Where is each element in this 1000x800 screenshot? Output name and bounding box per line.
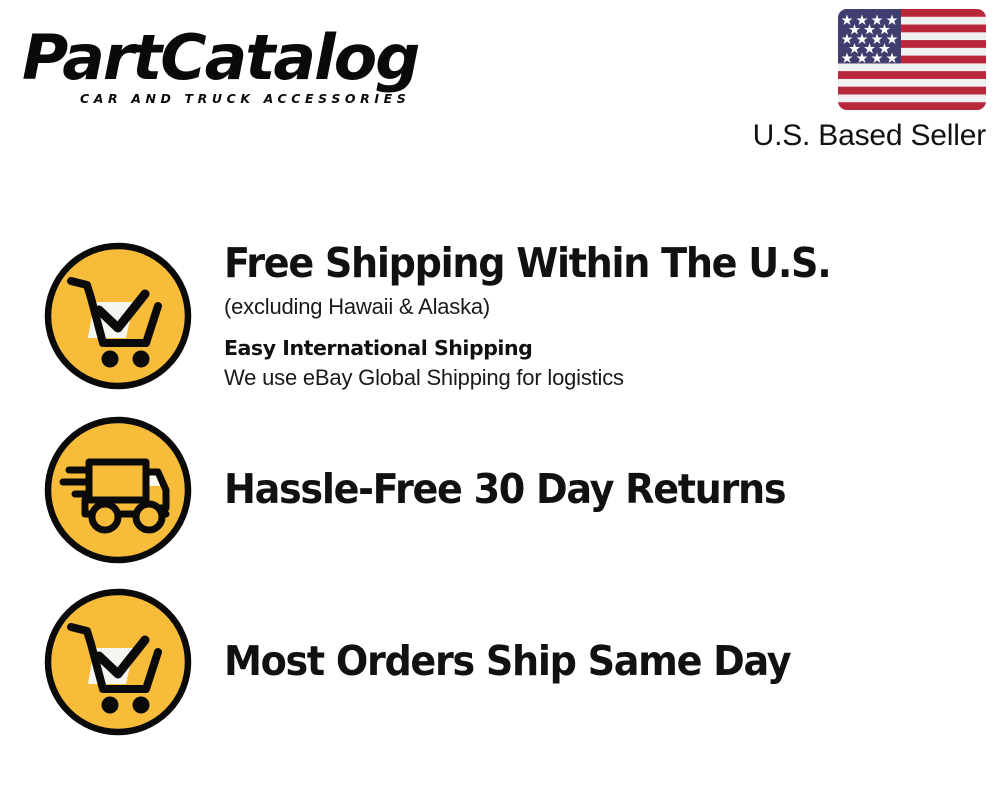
- us-based-seller-label: U.S. Based Seller: [753, 117, 986, 155]
- feature-subtitle-strong: Easy International Shipping: [224, 334, 980, 362]
- cart-check-icon: [42, 240, 194, 392]
- feature-text-block: Most Orders Ship Same Day: [224, 637, 1000, 686]
- feature-subtitle: (excluding Hawaii & Alaska): [224, 292, 980, 322]
- cart-check-icon: [42, 586, 194, 738]
- feature-text-block: Hassle-Free 30 Day Returns: [224, 465, 1000, 514]
- us-flag-icon: [838, 9, 986, 110]
- feature-row-same-day: Most Orders Ship Same Day: [0, 584, 1000, 739]
- feature-title: Most Orders Ship Same Day: [224, 637, 927, 686]
- shipping-info-banner: PartCatalog CAR AND TRUCK ACCESSORIES: [0, 0, 1000, 800]
- feature-row-free-shipping: Free Shipping Within The U.S. (excluding…: [0, 236, 1000, 396]
- feature-title: Hassle-Free 30 Day Returns: [224, 465, 927, 514]
- feature-subtitle-detail: We use eBay Global Shipping for logistic…: [224, 363, 980, 393]
- partcatalog-logo[interactable]: PartCatalog CAR AND TRUCK ACCESSORIES: [22, 26, 492, 112]
- feature-text-block: Free Shipping Within The U.S. (excluding…: [224, 239, 1000, 393]
- feature-row-returns: Hassle-Free 30 Day Returns: [0, 412, 1000, 567]
- feature-title: Free Shipping Within The U.S.: [224, 239, 927, 288]
- brand-wordmark: PartCatalog: [22, 26, 501, 90]
- delivery-truck-icon: [42, 414, 194, 566]
